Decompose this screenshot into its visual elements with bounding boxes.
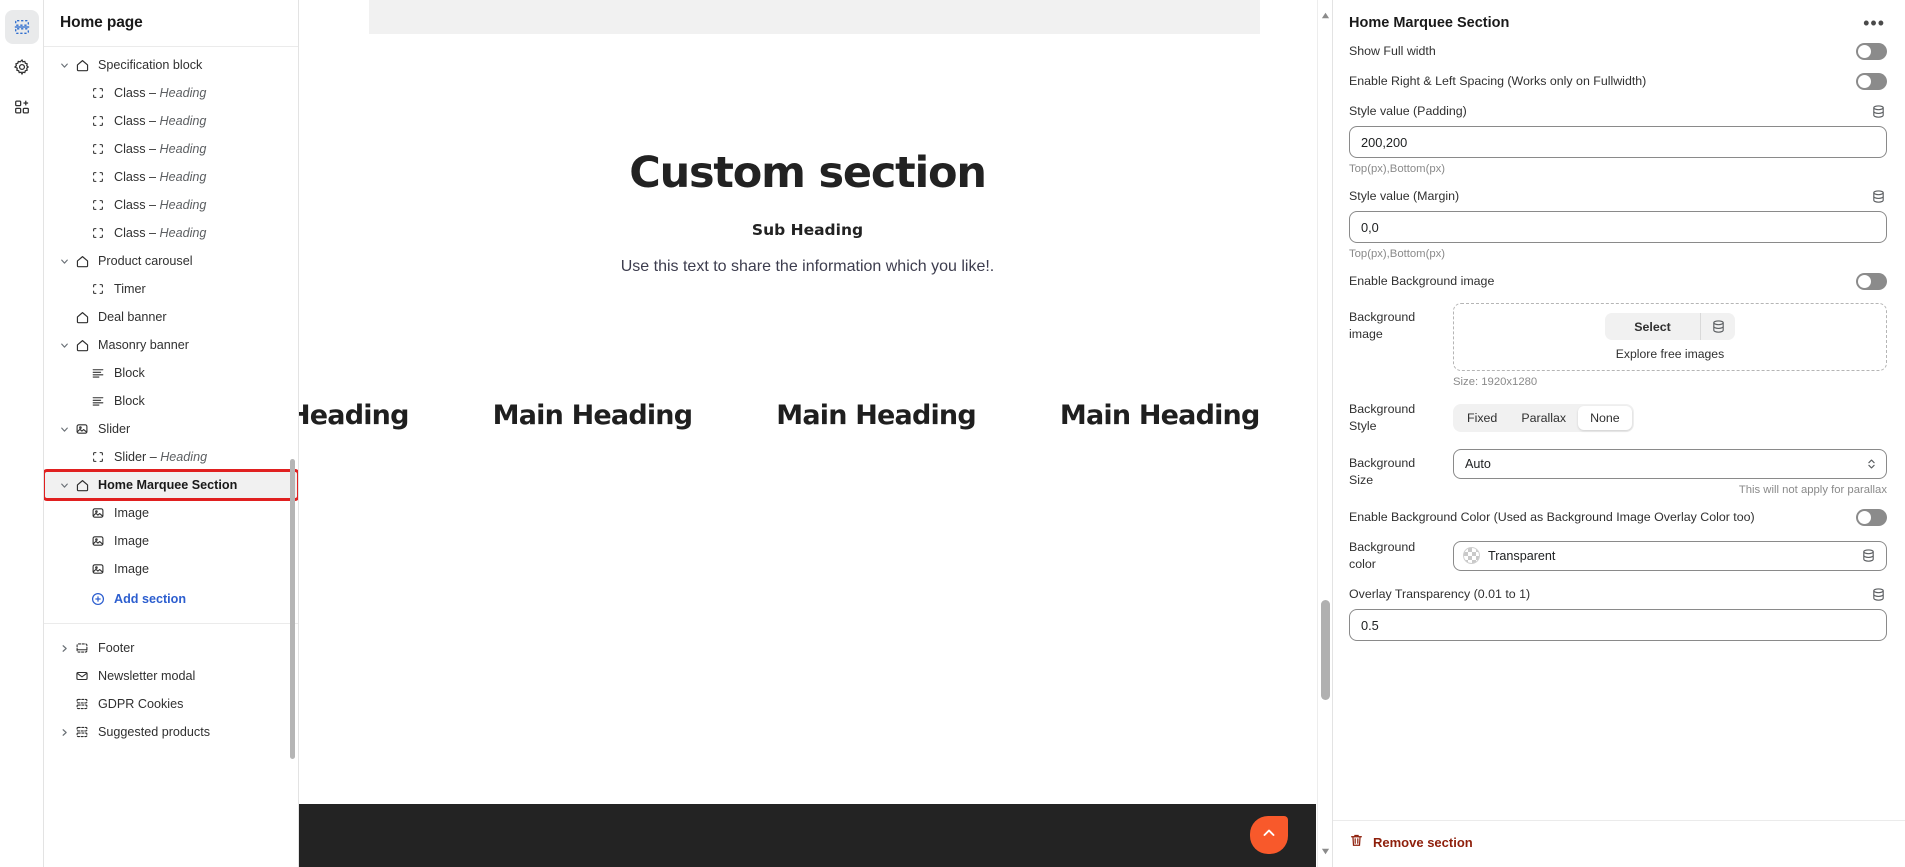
tree-item-label: Image: [114, 507, 149, 520]
home-icon: [72, 478, 92, 493]
chevron-up-icon: [1261, 825, 1277, 846]
preview-top-strip: [369, 0, 1260, 34]
tree-item-specification-block[interactable]: Specification block: [44, 51, 298, 79]
tree-item-image[interactable]: Image: [44, 499, 298, 527]
tree-item-label: Home Marquee Section: [98, 479, 237, 492]
footer-icon: [72, 641, 92, 655]
block-icon: [88, 226, 108, 240]
tree-item-class[interactable]: Class – Heading: [44, 163, 298, 191]
tree-item-class[interactable]: Class – Heading: [44, 219, 298, 247]
home-icon: [72, 338, 92, 353]
chevron-right-icon[interactable]: [56, 643, 72, 654]
enable-bg-color-label: Enable Background Color (Used as Backgro…: [1349, 509, 1755, 526]
tree-item-slider[interactable]: Slider – Heading: [44, 443, 298, 471]
tree-item-image[interactable]: Image: [44, 527, 298, 555]
tree-item-class[interactable]: Class – Heading: [44, 79, 298, 107]
app-root: Home page Specification blockClass – Hea…: [0, 0, 1905, 867]
tree-item-class[interactable]: Class – Heading: [44, 191, 298, 219]
tree-item-label: Class – Heading: [114, 227, 206, 240]
image-icon: [88, 506, 108, 520]
remove-section-label: Remove section: [1373, 835, 1473, 850]
chevron-down-icon[interactable]: [56, 256, 72, 267]
tree-divider: [44, 623, 298, 624]
background-size-value: Auto: [1465, 457, 1491, 471]
tree-item-label: Class – Heading: [114, 171, 206, 184]
enable-spacing-toggle[interactable]: [1856, 73, 1887, 90]
tree-item-label: Timer: [114, 283, 146, 296]
tree-item-label: Specification block: [98, 59, 202, 72]
hero-heading: Custom section: [299, 150, 1316, 197]
chevron-down-icon[interactable]: [56, 340, 72, 351]
field-enable-bg-color: Enable Background Color (Used as Backgro…: [1349, 509, 1887, 526]
sidebar-scrollbar[interactable]: [290, 91, 295, 857]
text-lines-icon: [88, 366, 108, 380]
sidebar-scroll-thumb[interactable]: [290, 459, 295, 759]
footer-dark-band: [299, 804, 1316, 867]
tree-item-label: Newsletter modal: [98, 670, 195, 683]
select-image-button[interactable]: Select: [1605, 313, 1700, 340]
tree-item-label: Image: [114, 563, 149, 576]
explore-free-images-link[interactable]: Explore free images: [1616, 347, 1724, 361]
field-padding: Style value (Padding) Top(px),Bottom(px): [1349, 103, 1887, 175]
preview-canvas: Custom section Sub Heading Use this text…: [299, 0, 1332, 867]
envelope-icon: [72, 669, 92, 683]
inspector-footer: Remove section: [1333, 820, 1905, 867]
image-icon: [88, 534, 108, 548]
chevron-updown-icon: [1866, 450, 1877, 478]
icon-rail: [0, 0, 44, 867]
tree-item-class[interactable]: Class – Heading: [44, 135, 298, 163]
hero-subheading: Sub Heading: [299, 221, 1316, 239]
image-icon: [88, 562, 108, 576]
tree-item-masonry-banner[interactable]: Masonry banner: [44, 331, 298, 359]
enable-bg-color-toggle[interactable]: [1856, 509, 1887, 526]
preview-scroll-thumb[interactable]: [1321, 600, 1330, 700]
home-icon: [72, 310, 92, 325]
background-size-label: Background Size: [1349, 455, 1441, 489]
database-icon[interactable]: [1871, 189, 1887, 204]
tree-item-suggested-products[interactable]: Suggested products: [44, 718, 298, 746]
database-icon[interactable]: [1871, 587, 1887, 602]
tree-item-label: Suggested products: [98, 726, 210, 739]
field-background-image: Background image Select: [1349, 303, 1887, 388]
background-size-note: This will not apply for parallax: [1453, 484, 1887, 496]
trash-icon: [1349, 833, 1364, 851]
padding-label: Style value (Padding): [1349, 103, 1467, 120]
tree-item-label: Class – Heading: [114, 143, 206, 156]
tree-item-label: Slider – Heading: [114, 451, 207, 464]
tree-item-home-marquee-section[interactable]: Home Marquee Section: [44, 471, 298, 499]
block-icon: [88, 142, 108, 156]
tree-item-slider[interactable]: Slider: [44, 415, 298, 443]
show-full-width-toggle[interactable]: [1856, 43, 1887, 60]
field-margin: Style value (Margin) Top(px),Bottom(px): [1349, 188, 1887, 260]
tree-item-newsletter-modal[interactable]: Newsletter modal: [44, 662, 298, 690]
tree-item-label: Block: [114, 395, 145, 408]
home-icon: [72, 254, 92, 269]
layout-icon: [72, 725, 92, 739]
tree-item-deal-banner[interactable]: Deal banner: [44, 303, 298, 331]
tree-item-label: GDPR Cookies: [98, 698, 183, 711]
marquee-item: Main Heading: [299, 400, 409, 431]
custom-section-hero: Custom section Sub Heading Use this text…: [299, 150, 1316, 276]
color-swatch-transparent: [1463, 547, 1480, 564]
block-icon: [88, 450, 108, 464]
tree-item-label: Block: [114, 367, 145, 380]
block-icon: [88, 282, 108, 296]
text-lines-icon: [88, 394, 108, 408]
tree-item-footer[interactable]: Footer: [44, 634, 298, 662]
preview-pane: Custom section Sub Heading Use this text…: [299, 0, 1333, 867]
background-style-option-parallax[interactable]: Parallax: [1509, 406, 1578, 430]
scroll-down-arrow-icon[interactable]: [1318, 844, 1333, 859]
field-background-size: Background Size Auto This will not apply…: [1349, 449, 1887, 496]
overlay-transparency-label: Overlay Transparency (0.01 to 1): [1349, 586, 1530, 603]
tree-item-label: Footer: [98, 642, 134, 655]
margin-hint: Top(px),Bottom(px): [1349, 248, 1887, 260]
tree-item-label: Product carousel: [98, 255, 193, 268]
plus-circle-icon: [88, 592, 108, 606]
tree-item-label: Class – Heading: [114, 87, 206, 100]
sections-icon: [13, 18, 31, 36]
chevron-down-icon[interactable]: [56, 60, 72, 71]
background-image-dropzone[interactable]: Select Explore free images: [1453, 303, 1887, 371]
tree-item-label: Class – Heading: [114, 115, 206, 128]
background-color-label: Background color: [1349, 539, 1441, 573]
rail-settings-button[interactable]: [5, 50, 39, 84]
layout-icon: [72, 697, 92, 711]
enable-bg-image-label: Enable Background image: [1349, 273, 1494, 290]
add-section-button[interactable]: Add section: [44, 585, 298, 613]
field-background-style: Background Style FixedParallaxNone: [1349, 401, 1887, 435]
apps-add-icon: [13, 98, 31, 116]
section-tree-bottom: FooterNewsletter modalGDPR CookiesSugges…: [44, 630, 298, 746]
database-icon[interactable]: [1861, 548, 1877, 563]
marquee-strip[interactable]: Main HeadingMain HeadingMain HeadingMain…: [299, 392, 1316, 438]
block-icon: [88, 170, 108, 184]
add-section-label: Add section: [114, 592, 186, 606]
kebab-menu-icon[interactable]: •••: [1861, 14, 1887, 33]
select-image-bar: Select: [1605, 313, 1735, 340]
tree-item-class[interactable]: Class – Heading: [44, 107, 298, 135]
background-style-label: Background Style: [1349, 401, 1441, 435]
gear-icon: [13, 58, 31, 76]
database-icon[interactable]: [1871, 104, 1887, 119]
marquee-item: Main Heading: [776, 400, 976, 431]
chevron-right-icon[interactable]: [56, 727, 72, 738]
margin-label: Style value (Margin): [1349, 188, 1459, 205]
enable-spacing-label: Enable Right & Left Spacing (Works only …: [1349, 73, 1646, 90]
field-show-full-width: Show Full width: [1349, 43, 1887, 60]
tree-item-label: Class – Heading: [114, 199, 206, 212]
background-image-size-note: Size: 1920x1280: [1453, 376, 1887, 388]
sidebar-tree-wrap: Specification blockClass – HeadingClass …: [44, 47, 298, 867]
inspector-header: Home Marquee Section •••: [1333, 0, 1905, 43]
field-enable-spacing: Enable Right & Left Spacing (Works only …: [1349, 73, 1887, 90]
background-color-value: Transparent: [1488, 549, 1853, 563]
image-icon: [72, 422, 92, 436]
field-overlay-transparency: Overlay Transparency (0.01 to 1): [1349, 586, 1887, 641]
page-title: Home page: [60, 14, 143, 32]
remove-section-button[interactable]: Remove section: [1349, 833, 1889, 851]
rail-apps-button[interactable]: [5, 90, 39, 124]
field-background-color: Background color Transparent: [1349, 539, 1887, 573]
sidebar-header: Home page: [44, 0, 298, 47]
tree-item-gdpr-cookies[interactable]: GDPR Cookies: [44, 690, 298, 718]
marquee-item: Main Heading: [1060, 400, 1260, 431]
preview-scrollbar[interactable]: [1317, 0, 1332, 867]
block-icon: [88, 198, 108, 212]
scroll-to-top-button[interactable]: [1250, 816, 1288, 854]
background-color-picker[interactable]: Transparent: [1453, 541, 1887, 571]
field-enable-bg-image: Enable Background image: [1349, 273, 1887, 290]
padding-input[interactable]: [1349, 126, 1887, 158]
chevron-down-icon[interactable]: [56, 424, 72, 435]
background-style-segmented[interactable]: FixedParallaxNone: [1453, 404, 1634, 432]
overlay-transparency-input[interactable]: [1349, 609, 1887, 641]
background-size-select[interactable]: Auto: [1453, 449, 1887, 479]
background-image-label: Background image: [1349, 303, 1441, 343]
chevron-down-icon[interactable]: [56, 480, 72, 491]
tree-item-block[interactable]: Block: [44, 387, 298, 415]
background-style-option-fixed[interactable]: Fixed: [1455, 406, 1509, 430]
marquee-item: Main Heading: [493, 400, 693, 431]
inspector-body: Show Full width Enable Right & Left Spac…: [1333, 43, 1905, 820]
sidebar: Home page Specification blockClass – Hea…: [44, 0, 299, 867]
block-icon: [88, 114, 108, 128]
background-style-option-none[interactable]: None: [1578, 406, 1632, 430]
database-icon[interactable]: [1701, 313, 1735, 340]
hero-paragraph: Use this text to share the information w…: [299, 258, 1316, 276]
show-full-width-label: Show Full width: [1349, 43, 1436, 60]
inspector-title: Home Marquee Section: [1349, 15, 1509, 31]
tree-item-label: Masonry banner: [98, 339, 189, 352]
home-icon: [72, 58, 92, 73]
rail-sections-button[interactable]: [5, 10, 39, 44]
margin-input[interactable]: [1349, 211, 1887, 243]
enable-bg-image-toggle[interactable]: [1856, 273, 1887, 290]
scroll-up-arrow-icon[interactable]: [1318, 8, 1333, 23]
tree-item-image[interactable]: Image: [44, 555, 298, 583]
tree-item-timer[interactable]: Timer: [44, 275, 298, 303]
tree-item-label: Image: [114, 535, 149, 548]
tree-item-label: Deal banner: [98, 311, 167, 324]
tree-item-product-carousel[interactable]: Product carousel: [44, 247, 298, 275]
inspector-panel: Home Marquee Section ••• Show Full width…: [1333, 0, 1905, 867]
section-tree: Specification blockClass – HeadingClass …: [44, 47, 298, 583]
tree-item-label: Slider: [98, 423, 130, 436]
block-icon: [88, 86, 108, 100]
padding-hint: Top(px),Bottom(px): [1349, 163, 1887, 175]
tree-item-block[interactable]: Block: [44, 359, 298, 387]
